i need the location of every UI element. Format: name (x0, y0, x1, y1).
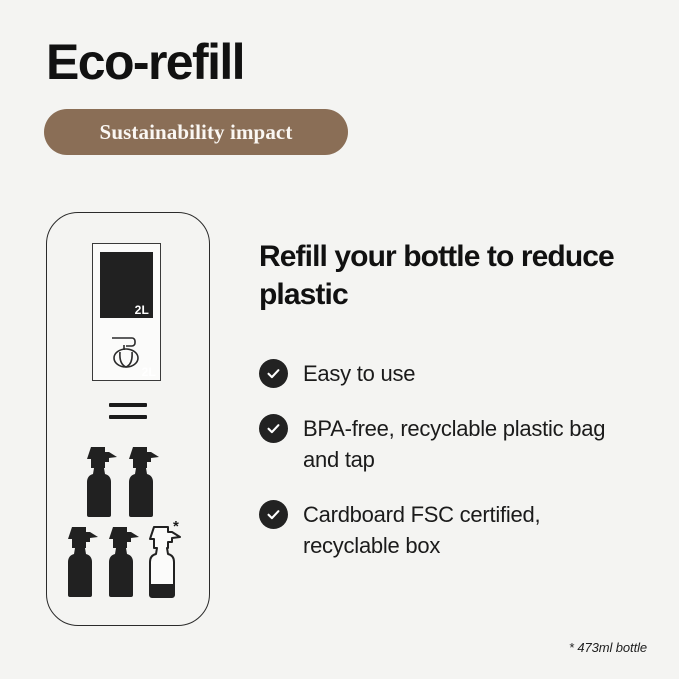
spray-bottle-group-three (66, 524, 186, 600)
asterisk-marker: * (173, 519, 179, 534)
status-badge-label: Sustainability impact (100, 120, 293, 145)
feature-label: BPA-free, recyclable plastic bag and tap (303, 413, 633, 475)
feature-list: Easy to use BPA-free, recyclable plastic… (259, 358, 639, 561)
carton-dark-label: 2L (100, 252, 153, 318)
check-circle-icon (259, 359, 288, 388)
status-badge: Sustainability impact (44, 109, 348, 155)
check-circle-icon (259, 414, 288, 443)
spray-bottle-filled-icon (85, 444, 123, 520)
spray-bottle-partial-icon (148, 524, 186, 600)
spray-bottle-group-two (85, 444, 165, 520)
spray-bottle-filled-icon (107, 524, 145, 600)
equals-icon (109, 403, 147, 422)
carton-volume-text: 2L (135, 304, 149, 317)
spray-bottle-filled-icon (127, 444, 165, 520)
tap-spout-icon (104, 328, 149, 373)
feature-label: Cardboard FSC certified, recyclable box (303, 499, 633, 561)
check-circle-icon (259, 500, 288, 529)
list-item: Cardboard FSC certified, recyclable box (259, 499, 639, 561)
spray-bottle-filled-icon (66, 524, 104, 600)
page-title: Eco-refill (46, 34, 244, 90)
list-item: Easy to use (259, 358, 639, 389)
list-item: BPA-free, recyclable plastic bag and tap (259, 413, 639, 475)
footnote: * 473ml bottle (569, 640, 647, 655)
section-heading: Refill your bottle to reduce plastic (259, 238, 629, 314)
feature-label: Easy to use (303, 358, 415, 389)
eco-refill-infographic: Eco-refill Sustainability impact 2L 2L (0, 0, 679, 679)
